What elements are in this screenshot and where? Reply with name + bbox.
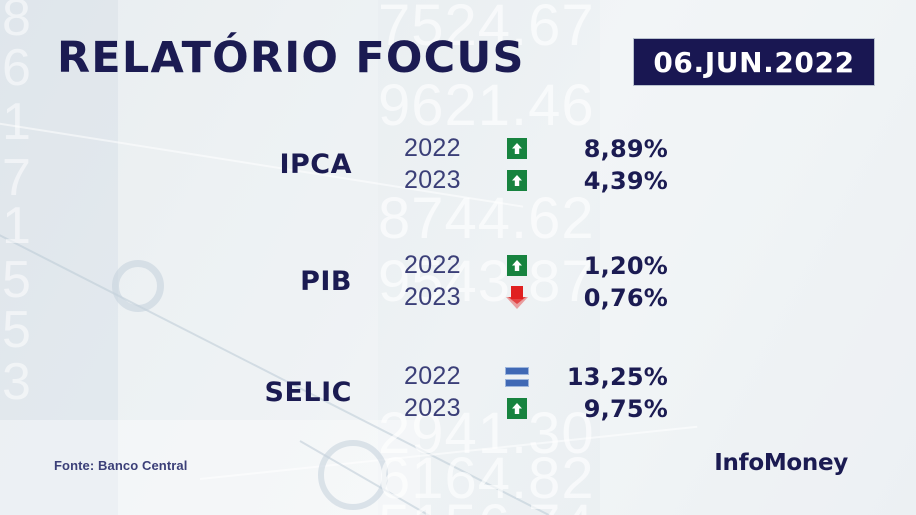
equals-bar (505, 367, 529, 375)
forecast-value: 9,75% (546, 395, 668, 423)
forecast-line: 20239,75% (404, 393, 668, 424)
trend-indicator (488, 138, 546, 159)
trend-indicator (488, 285, 546, 311)
arrow-up-icon (507, 138, 527, 159)
forecast-value: 0,76% (546, 284, 668, 312)
equals-stable-icon (505, 367, 529, 387)
forecast-value: 1,20% (546, 252, 668, 280)
indicator-row: PIB20221,20%20230,76% (0, 250, 916, 313)
forecast-line: 202213,25% (404, 361, 668, 392)
forecast-year: 2022 (404, 251, 488, 280)
forecast-line: 20234,39% (404, 165, 668, 196)
forecast-year: 2023 (404, 166, 488, 195)
forecast-line: 20230,76% (404, 282, 668, 313)
infomoney-logo: InfoMoney (714, 450, 848, 476)
forecast-year: 2023 (404, 283, 488, 312)
arrow-up-icon (507, 398, 527, 419)
background-digit: 8 (2, 0, 31, 48)
trend-indicator (488, 398, 546, 419)
date-badge: 06.JUN.2022 (633, 38, 875, 86)
forecast-line: 20221,20% (404, 250, 668, 281)
forecast-year: 2022 (404, 134, 488, 163)
arrow-down-tip-inner (508, 297, 526, 304)
background-node-ring (318, 440, 388, 510)
trend-indicator (488, 255, 546, 276)
indicator-year-group: 20228,89%20234,39% (404, 133, 668, 196)
background-number: 6164.82 (378, 445, 595, 512)
focus-report-infographic: 7524.679621.468744.629543.872941.306164.… (0, 0, 916, 515)
trend-indicator (488, 170, 546, 191)
indicator-year-group: 202213,25%20239,75% (404, 361, 668, 424)
forecast-value: 4,39% (546, 167, 668, 195)
indicator-name: SELIC (0, 377, 352, 408)
indicator-row: SELIC202213,25%20239,75% (0, 361, 916, 424)
trend-indicator (488, 367, 546, 387)
date-badge-label: 06.JUN.2022 (653, 46, 854, 79)
background-chart-line (200, 426, 697, 480)
indicator-year-group: 20221,20%20230,76% (404, 250, 668, 313)
background-chart-line (300, 440, 561, 515)
forecast-line: 20228,89% (404, 133, 668, 164)
background-digit: 6 (2, 38, 31, 98)
arrow-up-icon (507, 170, 527, 191)
arrow-down-icon (506, 285, 528, 311)
source-note: Fonte: Banco Central (54, 458, 187, 473)
forecast-year: 2023 (404, 394, 488, 423)
forecast-value: 8,89% (546, 135, 668, 163)
background-number: 5156.74 (378, 492, 595, 515)
page-title: RELATÓRIO FOCUS (57, 33, 525, 83)
equals-bar (505, 379, 529, 387)
indicator-row: IPCA20228,89%20234,39% (0, 133, 916, 196)
indicator-name: IPCA (0, 149, 352, 180)
arrow-up-icon (507, 255, 527, 276)
background-digit: 1 (2, 196, 31, 256)
indicator-name: PIB (0, 266, 352, 297)
forecast-year: 2022 (404, 362, 488, 391)
forecast-value: 13,25% (546, 363, 668, 391)
